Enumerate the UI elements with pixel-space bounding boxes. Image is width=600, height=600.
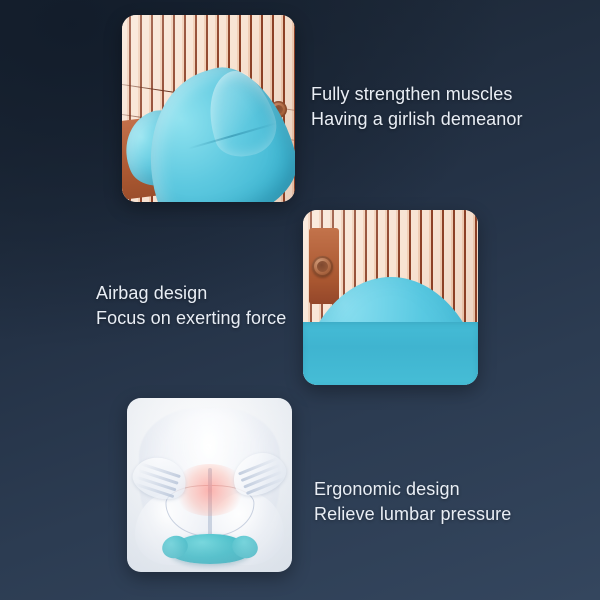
airbag-base-shelf: [303, 322, 478, 385]
feature-image-ergonomic-design[interactable]: [127, 398, 292, 572]
caption-line-1: Fully strengthen muscles: [311, 82, 523, 107]
brand-emblem-icon: [312, 256, 333, 277]
caption-line-2: Focus on exerting force: [96, 306, 286, 331]
feature-caption-fully-strengthen-muscles: Fully strengthen muscles Having a girlis…: [311, 82, 523, 132]
feature-image-fully-strengthen-muscles[interactable]: [122, 15, 295, 202]
caption-line-1: Ergonomic design: [314, 477, 511, 502]
caption-line-2: Relieve lumbar pressure: [314, 502, 511, 527]
feature-image-airbag-design[interactable]: [303, 210, 478, 385]
feature-caption-ergonomic-design: Ergonomic design Relieve lumbar pressure: [314, 477, 511, 527]
feature-caption-airbag-design: Airbag design Focus on exerting force: [96, 281, 286, 331]
product-feature-poster: Fully strengthen muscles Having a girlis…: [0, 0, 600, 600]
caption-line-2: Having a girlish demeanor: [311, 107, 523, 132]
caption-line-1: Airbag design: [96, 281, 286, 306]
photo-vignette: [127, 398, 292, 572]
